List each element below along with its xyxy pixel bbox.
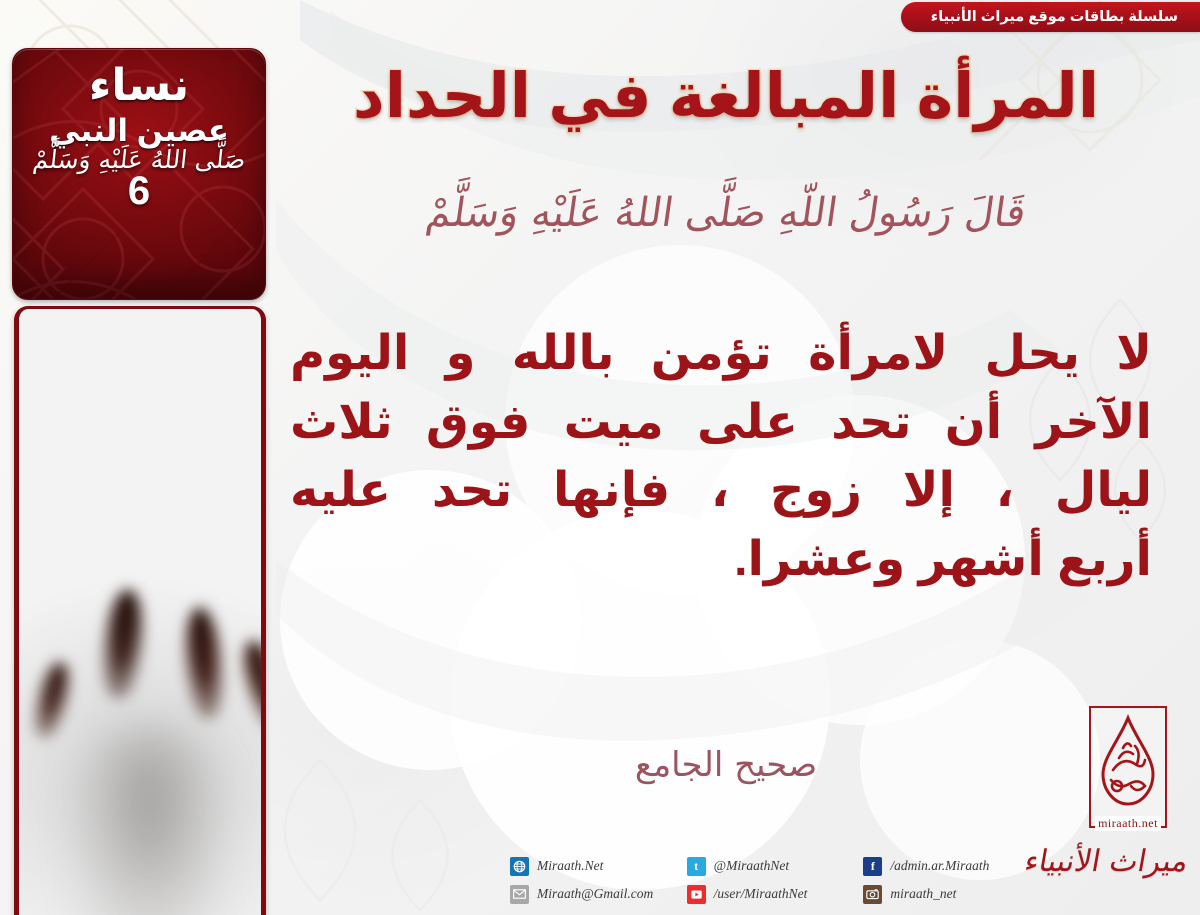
youtube-icon — [687, 885, 706, 904]
series-banner: سلسلة بطاقات موقع ميراث الأنبياء — [901, 2, 1200, 32]
hadith-source: صحيح الجامع — [276, 745, 1176, 785]
miraath-calligraphy-icon — [1097, 714, 1159, 810]
social-label-website: Miraath.Net — [537, 858, 603, 874]
hadith-text: لا يحل لامرأة تؤمن بالله و اليوم الآخر أ… — [276, 320, 1166, 595]
social-link-facebook[interactable]: f /admin.ar.Miraath — [863, 853, 1030, 879]
youtube-glyph — [690, 889, 703, 900]
hadith-line: لا يحل لامرأة تؤمن بالله و اليوم — [290, 320, 1152, 389]
instagram-icon — [863, 885, 882, 904]
globe-icon — [510, 857, 529, 876]
sidebar: نساء عصين النبي صَلَّى اللهُ عَلَيْهِ وَ… — [14, 48, 266, 915]
social-link-email[interactable]: Miraath@Gmail.com — [510, 881, 677, 907]
social-label-youtube: /user/MiraathNet — [714, 886, 808, 902]
social-link-youtube[interactable]: /user/MiraathNet — [687, 881, 854, 907]
palm-shape — [75, 729, 225, 915]
sidebar-series-card: نساء عصين النبي صَلَّى اللهُ عَلَيْهِ وَ… — [12, 48, 266, 300]
page-title: المرأة المبالغة في الحداد — [276, 64, 1176, 129]
sidebar-card-salawat: صَلَّى اللهُ عَلَيْهِ وَسَلَّمْ — [31, 146, 246, 174]
hadith-line: الآخر أن تحد على ميت فوق ثلاث — [290, 389, 1152, 458]
social-link-twitter[interactable]: t @MiraathNet — [687, 853, 854, 879]
sidebar-card-line1: نساء — [89, 63, 189, 109]
social-label-twitter: @MiraathNet — [714, 858, 789, 874]
sidebar-card-line2: عصين النبي — [49, 115, 229, 148]
site-logo: miraath.net ميراث الأنبياء — [1068, 706, 1188, 879]
envelope-glyph — [513, 889, 526, 899]
prophet-said-line: قَالَ رَسُولُ اللّهِ صَلَّى اللهُ عَلَيْ… — [273, 190, 1179, 236]
social-links: Miraath.Net t @MiraathNet f /admin.ar.Mi… — [510, 853, 1030, 907]
facebook-icon: f — [863, 857, 882, 876]
hadith-line: ليال ، إلا زوج ، فإنها تحد عليه — [290, 457, 1152, 526]
hadith-line: أربع أشهر وعشرا. — [290, 526, 1152, 595]
social-label-facebook: /admin.ar.Miraath — [890, 858, 989, 874]
sidebar-card-number: 6 — [128, 171, 150, 211]
card-canvas: سلسلة بطاقات موقع ميراث الأنبياء — [0, 0, 1200, 915]
social-link-instagram[interactable]: miraath_net — [863, 881, 1030, 907]
logo-frame: miraath.net — [1089, 706, 1167, 828]
sidebar-card-text: نساء عصين النبي صَلَّى اللهُ عَلَيْهِ وَ… — [13, 49, 265, 299]
email-icon — [510, 885, 529, 904]
camera-glyph — [866, 888, 879, 901]
social-link-website[interactable]: Miraath.Net — [510, 853, 677, 879]
sidebar-photo-hand-behind-glass — [14, 306, 266, 915]
social-label-email: Miraath@Gmail.com — [537, 886, 653, 902]
finger-shape — [235, 636, 266, 734]
series-banner-label: سلسلة بطاقات موقع ميراث الأنبياء — [931, 9, 1178, 25]
finger-shape — [28, 659, 76, 742]
logo-wordmark: ميراث الأنبياء — [1065, 844, 1191, 879]
social-label-instagram: miraath_net — [890, 886, 956, 902]
finger-shape — [97, 587, 148, 701]
twitter-icon: t — [687, 857, 706, 876]
main-content: المرأة المبالغة في الحداد قَالَ رَسُولُ … — [276, 0, 1200, 915]
finger-shape — [180, 606, 228, 721]
logo-domain: miraath.net — [1095, 816, 1161, 831]
globe-glyph — [513, 860, 526, 873]
logo-droplet — [1091, 708, 1165, 816]
